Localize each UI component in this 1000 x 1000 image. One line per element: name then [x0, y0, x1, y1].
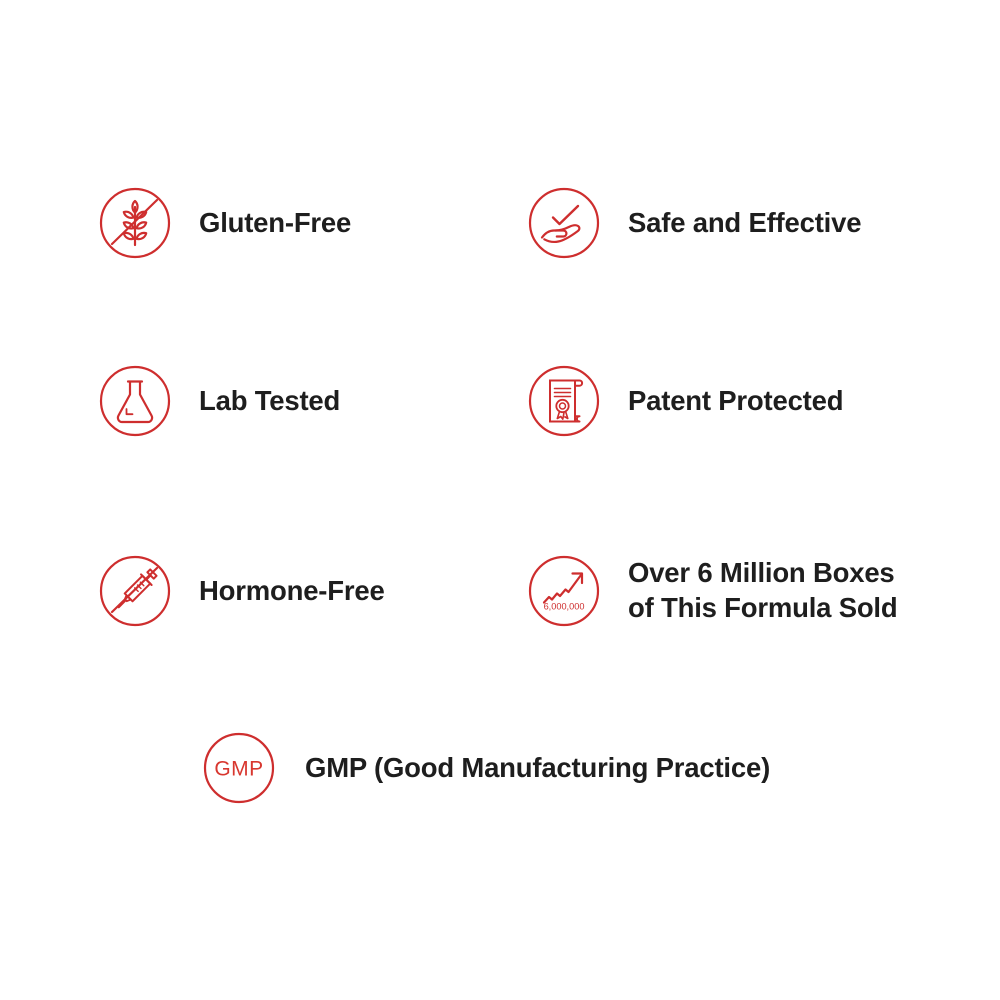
badge-label: Hormone-Free — [199, 573, 385, 608]
gmp-circle-icon: GMP — [203, 732, 275, 804]
badge-lab-tested: Lab Tested — [99, 365, 340, 437]
growth-arrow-icon: 6,000,000 — [528, 555, 600, 627]
badge-patent-protected: Patent Protected — [528, 365, 843, 437]
badge-label: Safe and Effective — [628, 205, 861, 240]
syringe-no-symbol-icon — [99, 555, 171, 627]
hand-checkmark-icon — [528, 187, 600, 259]
certificate-seal-icon — [528, 365, 600, 437]
badge-safe-and-effective: Safe and Effective — [528, 187, 861, 259]
badge-label: Patent Protected — [628, 383, 843, 418]
badge-label: GMP (Good Manufacturing Practice) — [305, 750, 770, 785]
badge-label: Lab Tested — [199, 383, 340, 418]
badge-boxes-sold: 6,000,000 Over 6 Million Boxes of This F… — [528, 555, 897, 627]
badge-gmp: GMP GMP (Good Manufacturing Practice) — [203, 732, 770, 804]
badge-hormone-free: Hormone-Free — [99, 555, 385, 627]
badge-gluten-free: Gluten-Free — [99, 187, 351, 259]
growth-arrow-value: 6,000,000 — [544, 602, 585, 612]
flask-icon — [99, 365, 171, 437]
wheat-no-symbol-icon — [99, 187, 171, 259]
badge-label: Gluten-Free — [199, 205, 351, 240]
gmp-icon-text: GMP — [214, 758, 263, 781]
badge-label: Over 6 Million Boxes of This Formula Sol… — [628, 556, 897, 625]
trust-badge-board: Gluten-Free Safe and Effective — [0, 0, 1000, 1000]
